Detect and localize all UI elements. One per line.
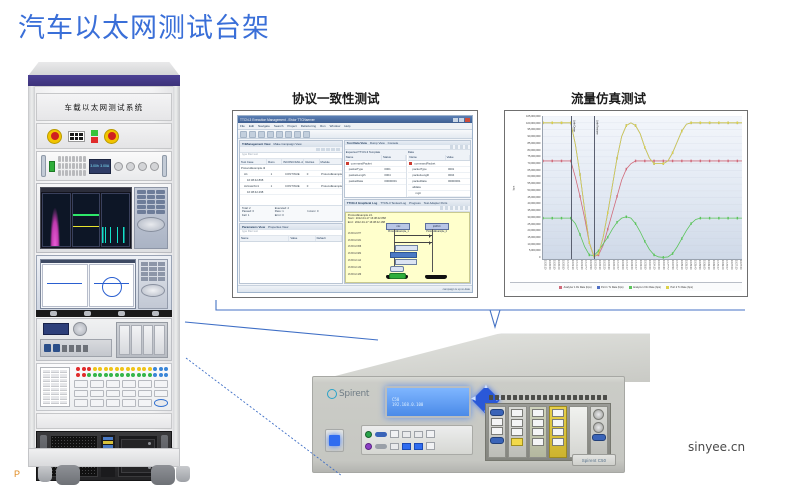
cell-name-text: commandPacket [350, 161, 373, 166]
chart-y-tick: 65,000,000 [528, 170, 541, 173]
port-grid[interactable] [74, 379, 168, 407]
menu-item-navigate[interactable]: Navigate [258, 124, 270, 128]
rack-patch-panel[interactable] [36, 363, 172, 411]
cell-value: 0001 [447, 167, 470, 172]
legend-label: Port 1 Tx Rate (bps) [601, 286, 623, 289]
graphical-log-pane[interactable]: TTCN-3 Graphical Log TTCN-3 Textual Log … [344, 199, 471, 284]
usb-port-1[interactable] [402, 431, 411, 438]
chart-data-point [672, 252, 673, 255]
log-export-icon[interactable] [460, 206, 464, 210]
chart-legend-item[interactable]: Analyzer 2 Rx Rate (bps) [629, 286, 661, 289]
chart-data-point [635, 160, 636, 163]
menu-item-run[interactable]: Run [320, 124, 326, 128]
cell-retries [307, 189, 321, 194]
msc-timestamp: 16:38:42.189 [348, 274, 361, 276]
cell-runs [272, 189, 286, 194]
expected-template-table[interactable]: Name Status commandPacket packetType 000… [345, 155, 408, 197]
rack-foot-right [176, 466, 190, 482]
log-fit-icon[interactable] [450, 206, 454, 210]
chart-data-point [663, 160, 664, 163]
testdata-compare-icon[interactable] [450, 145, 454, 149]
chart-data-point [543, 217, 544, 220]
log-zoom-out-icon[interactable] [445, 206, 449, 210]
chart-data-point [579, 233, 580, 236]
msc-timestamp: 16:38:42.132 [348, 267, 361, 269]
menu-item-refactoring[interactable]: Refactoring [301, 124, 316, 128]
chart-legend-item[interactable]: Port 2 Tx Rate (bps) [666, 286, 693, 289]
cell-retries [305, 165, 320, 170]
msc-lifeline-head-2: ptcPort ProtocolExample_2 [425, 223, 449, 230]
led-row-bottom [74, 373, 168, 377]
chart-data-point [718, 122, 719, 125]
legend-label: Port 2 Tx Rate (bps) [670, 286, 692, 289]
psu-handle-left[interactable] [41, 155, 46, 177]
chart-plot-wrapper: bps 105,000,000100,000,00095,000,00090,0… [510, 116, 742, 260]
rack-power-supply[interactable]: 3.00h 3.00A [36, 151, 172, 181]
toolbar-new-icon[interactable] [240, 131, 247, 138]
chart-data-point [718, 217, 719, 220]
chart-data-point [561, 160, 562, 163]
cell-action [282, 165, 304, 170]
maximize-icon[interactable] [459, 118, 464, 122]
lcd-line-2: 192.168.0.100 [392, 402, 423, 407]
chart-data-point [552, 122, 553, 125]
ps2-keyboard-port[interactable] [365, 431, 372, 438]
menu-item-window[interactable]: Window [330, 124, 341, 128]
chart-data-point [607, 228, 608, 231]
card5-serial-port[interactable] [592, 434, 606, 441]
column-runs: Runs [267, 159, 282, 164]
toolbar-search-icon[interactable] [294, 131, 301, 138]
chart-data-point [700, 122, 701, 125]
test-case-table[interactable]: Test Case Runs INCONC/FAIL Action Retrie… [240, 159, 342, 205]
test-module-card-3[interactable] [529, 406, 547, 458]
card5-coax-port-2[interactable] [593, 422, 604, 433]
chart-data-point [709, 160, 710, 163]
chart-legend-item[interactable]: Port 1 Tx Rate (bps) [597, 286, 624, 289]
arrow-up-icon[interactable]: ▲ [483, 384, 489, 390]
psu-keypad[interactable] [58, 156, 85, 176]
pane-menu-icon[interactable] [336, 148, 340, 152]
cell-status: 0001 [383, 167, 406, 172]
chart-y-tick: 50,000,000 [528, 190, 541, 193]
status-right: campaign is up-to-date [443, 288, 470, 291]
rack-caster-left [56, 465, 80, 485]
chart-data-point [543, 122, 544, 125]
window-controls[interactable] [453, 118, 470, 122]
card3-port-d[interactable] [532, 438, 544, 446]
tab-graphical-log[interactable]: TTCN-3 Graphical Log [347, 201, 378, 205]
window-titlebar[interactable]: TTCN-3 Execution Management - Elvior TTC… [238, 116, 472, 123]
rack-control-panel[interactable] [36, 123, 172, 149]
msc-verdict-pass-box [389, 273, 406, 279]
testdata-expand-icon[interactable] [455, 145, 459, 149]
card1-port-a[interactable] [491, 418, 503, 426]
analyzer-control-keys[interactable] [134, 187, 168, 249]
test-summary: Total: 2 Executed: 2 Passed: 0 Pass: 1 I… [240, 205, 342, 221]
usb3-port-1[interactable] [402, 443, 411, 450]
chart-data-point [616, 221, 617, 224]
chart-y-tick-labels: 105,000,000100,000,00095,000,00090,000,0… [516, 116, 542, 260]
psu-display: 3.00h 3.00A [89, 159, 111, 174]
chart-series-line [543, 161, 742, 256]
testdata-menu-icon[interactable] [465, 145, 469, 149]
section-heading-traffic: 流量仿真测试 [571, 88, 646, 107]
table-row[interactable]: packetData 00000001 [345, 179, 407, 185]
chart-y-tick: 45,000,000 [528, 197, 541, 200]
toolbar-save-icon[interactable] [249, 131, 256, 138]
cell-value [446, 161, 470, 166]
chart-data-point [690, 160, 691, 163]
card1-serial-port-2[interactable] [490, 437, 504, 444]
toolbar-run-icon[interactable] [267, 131, 274, 138]
io-row-bottom[interactable] [365, 442, 469, 450]
arrow-left-icon[interactable]: ◀ [471, 396, 476, 402]
card3-port-a[interactable] [532, 409, 544, 417]
chart-data-point [653, 162, 654, 165]
chart-data-point [700, 160, 701, 163]
chart-data-point [709, 217, 710, 220]
legend-swatch [629, 286, 632, 289]
analyzer-rotary-knob[interactable] [137, 217, 165, 232]
card2-led-strip [511, 438, 523, 446]
cell-status: 00000001 [383, 179, 406, 184]
toolbar-next-icon[interactable] [303, 131, 310, 138]
card4-port-c[interactable] [552, 428, 564, 436]
analyzer-screen [40, 187, 132, 249]
log-zoom-in-icon[interactable] [440, 206, 444, 210]
chart-data-point [616, 195, 617, 198]
chart-data-point [709, 122, 710, 125]
card1-serial-port[interactable] [490, 409, 504, 416]
cell-module: ProtocolExample [320, 183, 342, 188]
cell-name: alldata [408, 185, 447, 190]
card3-port-c[interactable] [532, 428, 544, 436]
menu-item-help[interactable]: Help [344, 124, 350, 128]
window-title-text: TTCN-3 Execution Management - Elvior TTC… [240, 118, 315, 122]
card4-port-a[interactable] [552, 409, 564, 417]
cell-name: packetData [408, 179, 447, 184]
card4-port-b[interactable] [552, 419, 564, 427]
test-module-card-5[interactable] [590, 406, 608, 458]
minimize-icon[interactable] [453, 118, 458, 122]
cell-test-case: 16:38:42.868 [240, 177, 272, 182]
tool-bar[interactable] [238, 130, 472, 139]
msc-timestamp: 16:38:42.114 [348, 260, 361, 262]
chart-x-tick: 10:27:20 [738, 260, 743, 282]
toolbar-debug-icon[interactable] [276, 131, 283, 138]
appliance-card-cage[interactable] [485, 403, 611, 461]
cell-retries [307, 177, 321, 182]
vna-connector-row[interactable] [36, 310, 172, 317]
cell-runs [272, 177, 286, 182]
column-status: Status [382, 155, 406, 160]
chart-data-point [644, 240, 645, 243]
chart-y-tick: 95,000,000 [528, 129, 541, 132]
test-data-split: Name Status commandPacket packetType 000… [345, 155, 470, 197]
pane-stop-icon[interactable] [321, 148, 325, 152]
appliance-model-text: Spirent C50 [582, 458, 606, 463]
tab-trimanagement[interactable]: TriManagement View [242, 142, 271, 146]
chart-plot-area: Link Down Link Restore [542, 116, 742, 260]
rack-top-cap [28, 62, 180, 76]
chart-y-tick: 105,000,000 [526, 116, 540, 119]
tab-progress[interactable]: Progress [409, 201, 421, 205]
keypad-icon[interactable] [68, 131, 85, 142]
menu-item-file[interactable]: File [240, 124, 245, 128]
chart-data-point [552, 217, 553, 220]
log-menu-icon[interactable] [465, 206, 469, 210]
chart-annotation-label-1: Link Down [572, 120, 575, 132]
tab-make-campaign[interactable]: Make Campaign View [274, 142, 302, 146]
power-button[interactable] [325, 429, 344, 452]
chart-data-point [737, 122, 738, 125]
rack-label-panel: 车载以太网测试系统 [36, 93, 172, 121]
ttcn-application-window: TTCN-3 Execution Management - Elvior TTC… [237, 115, 473, 293]
terminal-block[interactable] [40, 367, 70, 407]
chart-legend[interactable]: Analyzer 1 Rx Rate (bps)Port 1 Tx Rate (… [510, 282, 742, 291]
patch-port-area[interactable] [74, 367, 168, 407]
cell-status [382, 161, 406, 166]
card2-port-a[interactable] [511, 409, 523, 417]
cell-retries: 0 [306, 183, 320, 188]
analyzer-trace-peak [42, 193, 71, 247]
usb-port-3[interactable] [390, 443, 399, 450]
controller-io-panel[interactable] [40, 339, 112, 357]
psu-knobs[interactable] [114, 162, 159, 171]
chart-data-point [626, 168, 627, 171]
cell-action: CONTINUE [284, 183, 306, 188]
column-retries: Retries [304, 159, 319, 164]
chart-data-point [616, 157, 617, 160]
chart-series-line [543, 217, 742, 258]
vna-control-keys[interactable] [138, 259, 168, 309]
section-heading-protocol: 协议一致性测试 [292, 88, 380, 107]
usb3-port-2[interactable] [414, 443, 423, 450]
legend-label: Analyzer 2 Rx Rate (bps) [633, 286, 661, 289]
pane-collapse-icon[interactable] [331, 148, 335, 152]
psu-power-switch[interactable] [49, 161, 55, 172]
chart-y-tick: 15,000,000 [528, 237, 541, 240]
ethernet-port-2[interactable] [426, 430, 435, 438]
cell-test-case: tc1 [240, 171, 270, 176]
chart-data-point [681, 237, 682, 240]
cell-name: packetLength [345, 173, 384, 178]
usb-port-2[interactable] [414, 431, 423, 438]
chart-data-point [718, 160, 719, 163]
chart-data-point [635, 222, 636, 225]
rack-foot-left [38, 466, 52, 482]
chart-data-point [552, 160, 553, 163]
msc-timestamp: 16:38:42.877 [348, 233, 361, 235]
test-module-card-4[interactable] [549, 406, 567, 458]
spirent-brand-text: Spirent [339, 389, 369, 399]
card2-port-c[interactable] [511, 428, 523, 436]
chart-data-point [626, 215, 627, 218]
io-row-top[interactable] [365, 430, 469, 438]
chart-y-tick: 20,000,000 [528, 230, 541, 233]
psu-voltage-value: 3.00h [90, 164, 99, 168]
chart-y-tick: 30,000,000 [528, 217, 541, 220]
led-row-top [74, 367, 168, 371]
chart-annotation-marker-1: Link Down [571, 116, 572, 259]
table-row[interactable]: 16:38:42.298 [240, 189, 342, 195]
chart-x-tick-labels: 10:20:1010:20:2010:20:3010:20:4010:20:50… [510, 260, 742, 282]
testdata-collapse-icon[interactable] [460, 145, 464, 149]
test-data-pane[interactable]: Test Data View Dump View Console Expecte… [344, 140, 471, 198]
chart-legend-item[interactable]: Analyzer 1 Rx Rate (bps) [559, 286, 591, 289]
msc-lifeline-foot-2 [425, 275, 447, 279]
cell-module [321, 177, 342, 182]
cell-module [319, 165, 341, 170]
cell-name: mgit [408, 191, 448, 196]
message-sequence-chart[interactable]: ProtocolExample.tc1 Start : 2012-04-17 1… [345, 212, 470, 283]
menu-item-edit[interactable]: Edit [249, 124, 254, 128]
cell-status: 0004 [383, 173, 406, 178]
workbench-area: TriManagement View Make Campaign View ty… [238, 139, 472, 285]
chart-data-point [598, 252, 599, 255]
appliance-vent-holes [489, 395, 607, 400]
rack-network-analyzer[interactable] [36, 255, 172, 313]
chart-y-tick: 70,000,000 [528, 163, 541, 166]
vna-trace-smith [89, 264, 135, 307]
appliance-top-face [312, 333, 650, 382]
cell-runs: 1 [270, 171, 284, 176]
ethernet-port-3[interactable] [426, 442, 435, 450]
traffic-chart: bps 105,000,000100,000,00095,000,00090,0… [510, 116, 742, 291]
test-module-card-2[interactable] [508, 406, 526, 458]
column-name: Name [345, 155, 382, 160]
cell-value [448, 191, 470, 196]
column-action: INCONC/FAIL Action [282, 159, 304, 164]
emergency-stop-icon-2[interactable] [104, 129, 119, 144]
chart-y-tick: 40,000,000 [528, 203, 541, 206]
power-icon[interactable] [329, 435, 340, 446]
tab-properties-view[interactable]: Properties View [268, 225, 288, 229]
chart-data-point [561, 122, 562, 125]
chart-data-point [737, 217, 738, 220]
chart-data-point [561, 217, 562, 220]
vga-port[interactable] [375, 444, 387, 449]
column-value: Value [446, 155, 470, 160]
tab-test-adapter-ports[interactable]: Test Adapter Ports [424, 201, 448, 205]
chart-data-point [653, 254, 654, 257]
card5-coax-port-1[interactable] [593, 409, 604, 420]
parameters-table[interactable]: Name Value Default [240, 236, 342, 283]
chart-data-point [579, 195, 580, 198]
expected-template-title: Expected TTCN-3 Template [346, 150, 407, 154]
cell-test-case: ProtocolExample.ttl [240, 165, 268, 170]
cell-name: packetType [345, 167, 384, 172]
left-column: TriManagement View Make Campaign View ty… [239, 140, 343, 284]
cell-name: commandPacket [408, 161, 445, 166]
cell-action [286, 177, 307, 182]
test-module-card-1[interactable] [488, 406, 506, 458]
analyzer-trace-wave [72, 193, 101, 247]
vna-rotary-knob[interactable] [141, 284, 165, 297]
tab-parameters-view[interactable]: Parameters View [242, 225, 265, 229]
appliance-io-panel[interactable] [361, 425, 473, 455]
chart-y-tick: 75,000,000 [528, 156, 541, 159]
corner-mark: P [14, 469, 20, 479]
data-title: Data [408, 150, 469, 154]
ps2-mouse-port[interactable] [365, 443, 372, 450]
parameters-pane[interactable]: Parameters View Properties View type fil… [239, 223, 343, 284]
chart-y-axis-label-text: bps [511, 186, 515, 191]
controller-lcd [43, 323, 69, 335]
cell-runs [268, 165, 283, 170]
psu-handle-right[interactable] [162, 155, 167, 177]
analyzer-trace-area [41, 192, 131, 248]
chart-data-point [681, 160, 682, 163]
chart-data-point [635, 124, 636, 127]
menu-bar[interactable]: File Edit Navigate Search Project Refact… [238, 123, 472, 130]
card2-port-b[interactable] [511, 419, 523, 427]
menu-item-search[interactable]: Search [274, 124, 284, 128]
chart-y-tick: 80,000,000 [528, 150, 541, 153]
chart-data-point [607, 211, 608, 214]
msc-verdict-box [390, 266, 404, 272]
site-watermark: sinyee.cn [688, 440, 745, 454]
chart-y-tick: 35,000,000 [528, 210, 541, 213]
chart-data-point [644, 160, 645, 163]
cell-test-case: 16:38:42.298 [240, 189, 272, 194]
close-icon[interactable] [465, 118, 470, 122]
emergency-stop-icon[interactable] [47, 129, 62, 144]
log-print-icon[interactable] [455, 206, 459, 210]
summary-error: Error: 0 [275, 214, 307, 217]
toolbar-stop-icon[interactable] [285, 131, 292, 138]
card1-port-b[interactable] [491, 427, 503, 435]
rack-label-text: 车载以太网测试系统 [64, 102, 143, 113]
chart-y-tick: 60,000,000 [528, 176, 541, 179]
cell-action [286, 189, 307, 194]
legend-label: Analyzer 1 Rx Rate (bps) [564, 286, 592, 289]
tab-textual-log[interactable]: TTCN-3 Textual Log [380, 201, 406, 205]
serial-port[interactable] [375, 432, 387, 437]
chart-data-point [543, 160, 544, 163]
page-title: 汽车以太网测试台架 [18, 6, 270, 45]
test-management-pane[interactable]: TriManagement View Make Campaign View ty… [239, 140, 343, 222]
msc-event-box [390, 252, 417, 258]
rack-caster-right [151, 465, 175, 485]
controller-card-slots[interactable] [116, 322, 168, 358]
cell-retries: 0 [306, 171, 320, 176]
table-header: Name Value Default [240, 236, 342, 242]
card3-port-b[interactable] [532, 419, 544, 427]
cell-value: 0004 [447, 173, 470, 178]
chart-data-point [672, 151, 673, 154]
data-table[interactable]: Name Value commandPacket packetType 0001 [408, 155, 470, 197]
vna-plot-area [41, 263, 135, 308]
column-module: Module [320, 159, 342, 164]
column-name: Name [408, 155, 445, 160]
chart-data-point [579, 173, 580, 176]
summary-fail: Fail: 1 [242, 214, 274, 217]
pane-run-icon[interactable] [316, 148, 320, 152]
pane-refresh-icon[interactable] [326, 148, 330, 152]
ethernet-port-1[interactable] [390, 430, 399, 438]
table-row[interactable]: mgit [408, 191, 470, 197]
summary-blank-2 [308, 214, 340, 217]
controller-navpad-icon[interactable] [73, 322, 87, 336]
legend-swatch [559, 286, 562, 289]
rack-controller-chassis[interactable] [36, 318, 172, 361]
rack-spectrum-analyzer[interactable] [36, 183, 172, 253]
menu-item-project[interactable]: Project [287, 124, 296, 128]
chart-y-tick: 55,000,000 [528, 183, 541, 186]
toolbar-build-icon[interactable] [258, 131, 265, 138]
